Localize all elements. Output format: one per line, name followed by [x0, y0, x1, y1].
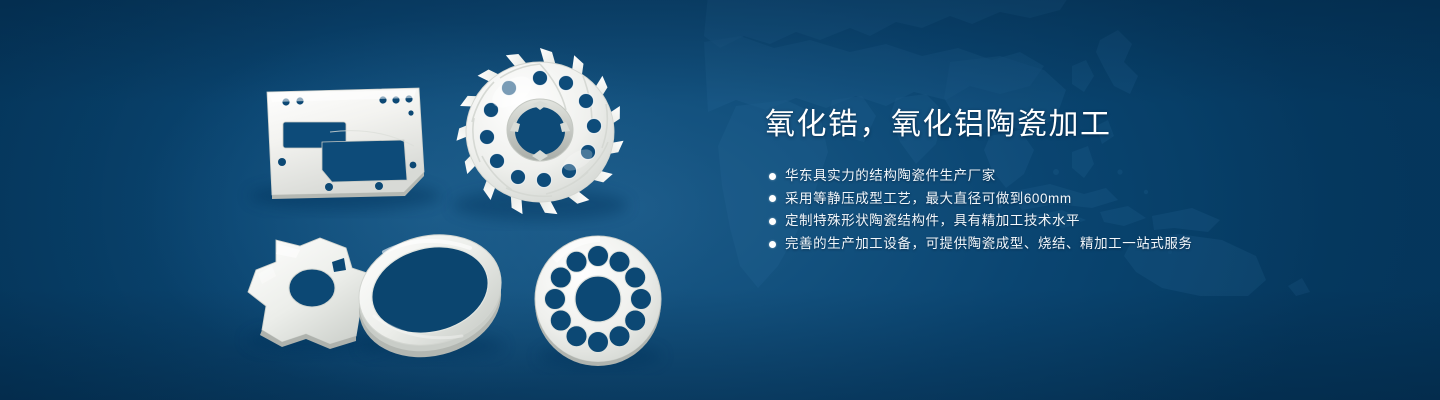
bullet-dot-icon	[769, 173, 776, 180]
list-item: 定制特殊形状陶瓷结构件，具有精加工技术水平	[765, 210, 1385, 233]
list-item-label: 采用等静压成型工艺，最大直径可做到600mm	[785, 190, 1072, 208]
product-image-cluster	[0, 0, 720, 400]
ceramic-perforated-disc	[535, 236, 662, 368]
hero-banner: 氧化锆，氧化铝陶瓷加工 华东具实力的结构陶瓷件生产厂家 采用等静压成型工艺，最大…	[0, 0, 1440, 400]
banner-copy: 氧化锆，氧化铝陶瓷加工 华东具实力的结构陶瓷件生产厂家 采用等静压成型工艺，最大…	[765, 104, 1385, 255]
bullet-dot-icon	[769, 218, 776, 225]
bullet-dot-icon	[769, 241, 776, 248]
bullet-dot-icon	[769, 195, 776, 202]
list-item-label: 完善的生产加工设备，可提供陶瓷成型、烧结、精加工一站式服务	[785, 235, 1192, 253]
ceramic-plate-with-cutouts	[249, 88, 441, 210]
list-item: 华东具实力的结构陶瓷件生产厂家	[765, 165, 1385, 188]
list-item: 完善的生产加工设备，可提供陶瓷成型、烧结、精加工一站式服务	[765, 233, 1385, 256]
list-item-label: 华东具实力的结构陶瓷件生产厂家	[785, 167, 996, 185]
list-item-label: 定制特殊形状陶瓷结构件，具有精加工技术水平	[785, 212, 1080, 230]
feature-list: 华东具实力的结构陶瓷件生产厂家 采用等静压成型工艺，最大直径可做到600mm 定…	[765, 165, 1385, 255]
list-item: 采用等静压成型工艺，最大直径可做到600mm	[765, 188, 1385, 211]
page-title: 氧化锆，氧化铝陶瓷加工	[765, 104, 1385, 146]
